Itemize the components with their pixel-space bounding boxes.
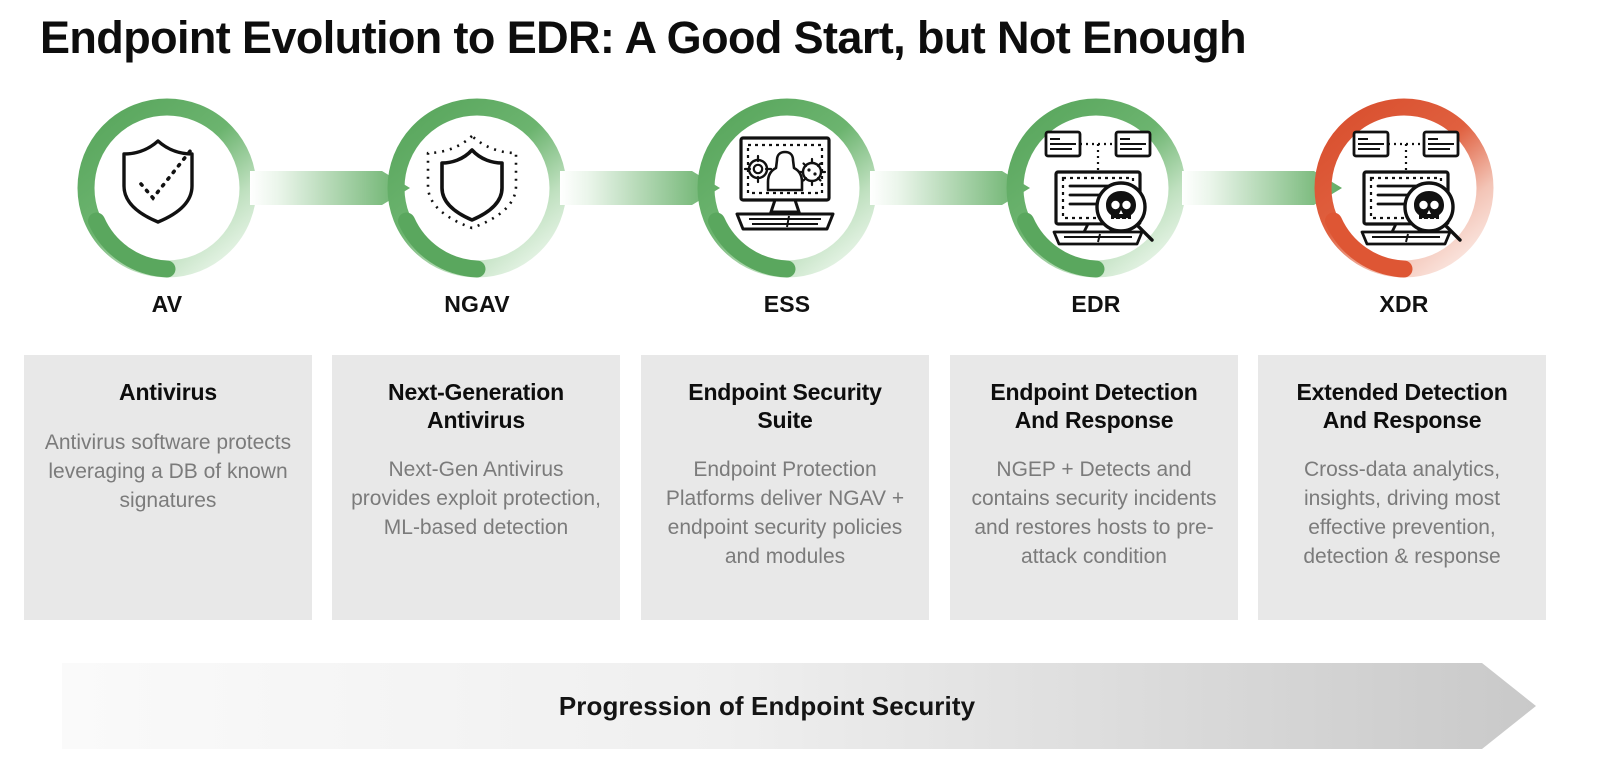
stage-xdr[interactable]: XDR: [1311, 95, 1497, 340]
monitor-skull-magnifier-icon: [1344, 128, 1464, 248]
card-body: NGEP + Detects and contains security inc…: [968, 456, 1220, 572]
card-extended-detection-and-response[interactable]: Extended Detection And Response Cross-da…: [1258, 355, 1546, 620]
card-title: Endpoint Security Suite: [659, 379, 911, 434]
stage-ess[interactable]: ESS: [694, 95, 880, 340]
stage-ngav[interactable]: NGAV: [384, 95, 570, 340]
monitor-skull-magnifier-icon: [1036, 128, 1156, 248]
card-antivirus[interactable]: Antivirus Antivirus software protects le…: [24, 355, 312, 620]
stage-av[interactable]: AV: [74, 95, 260, 340]
card-title: Antivirus: [42, 379, 294, 407]
stage-edr[interactable]: EDR: [1003, 95, 1189, 340]
progression-arrow: Progression of Endpoint Security: [62, 663, 1536, 749]
card-title: Extended Detection And Response: [1276, 379, 1528, 434]
ring-ess: [694, 95, 880, 281]
card-body: Endpoint Protection Platforms deliver NG…: [659, 456, 911, 572]
ring-ngav: [384, 95, 570, 281]
card-endpoint-detection-and-response[interactable]: Endpoint Detection And Response NGEP + D…: [950, 355, 1238, 620]
ring-av: [74, 95, 260, 281]
stage-label-edr: EDR: [1003, 291, 1189, 318]
card-body: Next-Gen Antivirus provides exploit prot…: [350, 456, 602, 543]
card-title: Endpoint Detection And Response: [968, 379, 1220, 434]
card-next-generation-antivirus[interactable]: Next-Generation Antivirus Next-Gen Antiv…: [332, 355, 620, 620]
card-title: Next-Generation Antivirus: [350, 379, 602, 434]
monitor-threat-icon: [727, 128, 847, 248]
cards-row: Antivirus Antivirus software protects le…: [0, 355, 1600, 620]
stage-row: AV NGAV: [0, 95, 1600, 340]
progression-label: Progression of Endpoint Security: [62, 663, 1472, 749]
card-body: Antivirus software protects leveraging a…: [42, 429, 294, 516]
stage-label-xdr: XDR: [1311, 291, 1497, 318]
card-body: Cross-data analytics, insights, driving …: [1276, 456, 1528, 572]
shield-check-dotted-icon: [107, 128, 227, 248]
card-endpoint-security-suite[interactable]: Endpoint Security Suite Endpoint Protect…: [641, 355, 929, 620]
ring-edr: [1003, 95, 1189, 281]
stage-label-ess: ESS: [694, 291, 880, 318]
stage-label-av: AV: [74, 291, 260, 318]
stage-label-ngav: NGAV: [384, 291, 570, 318]
page-title: Endpoint Evolution to EDR: A Good Start,…: [40, 12, 1246, 64]
shield-dotted-outline-icon: [417, 128, 537, 248]
ring-xdr: [1311, 95, 1497, 281]
